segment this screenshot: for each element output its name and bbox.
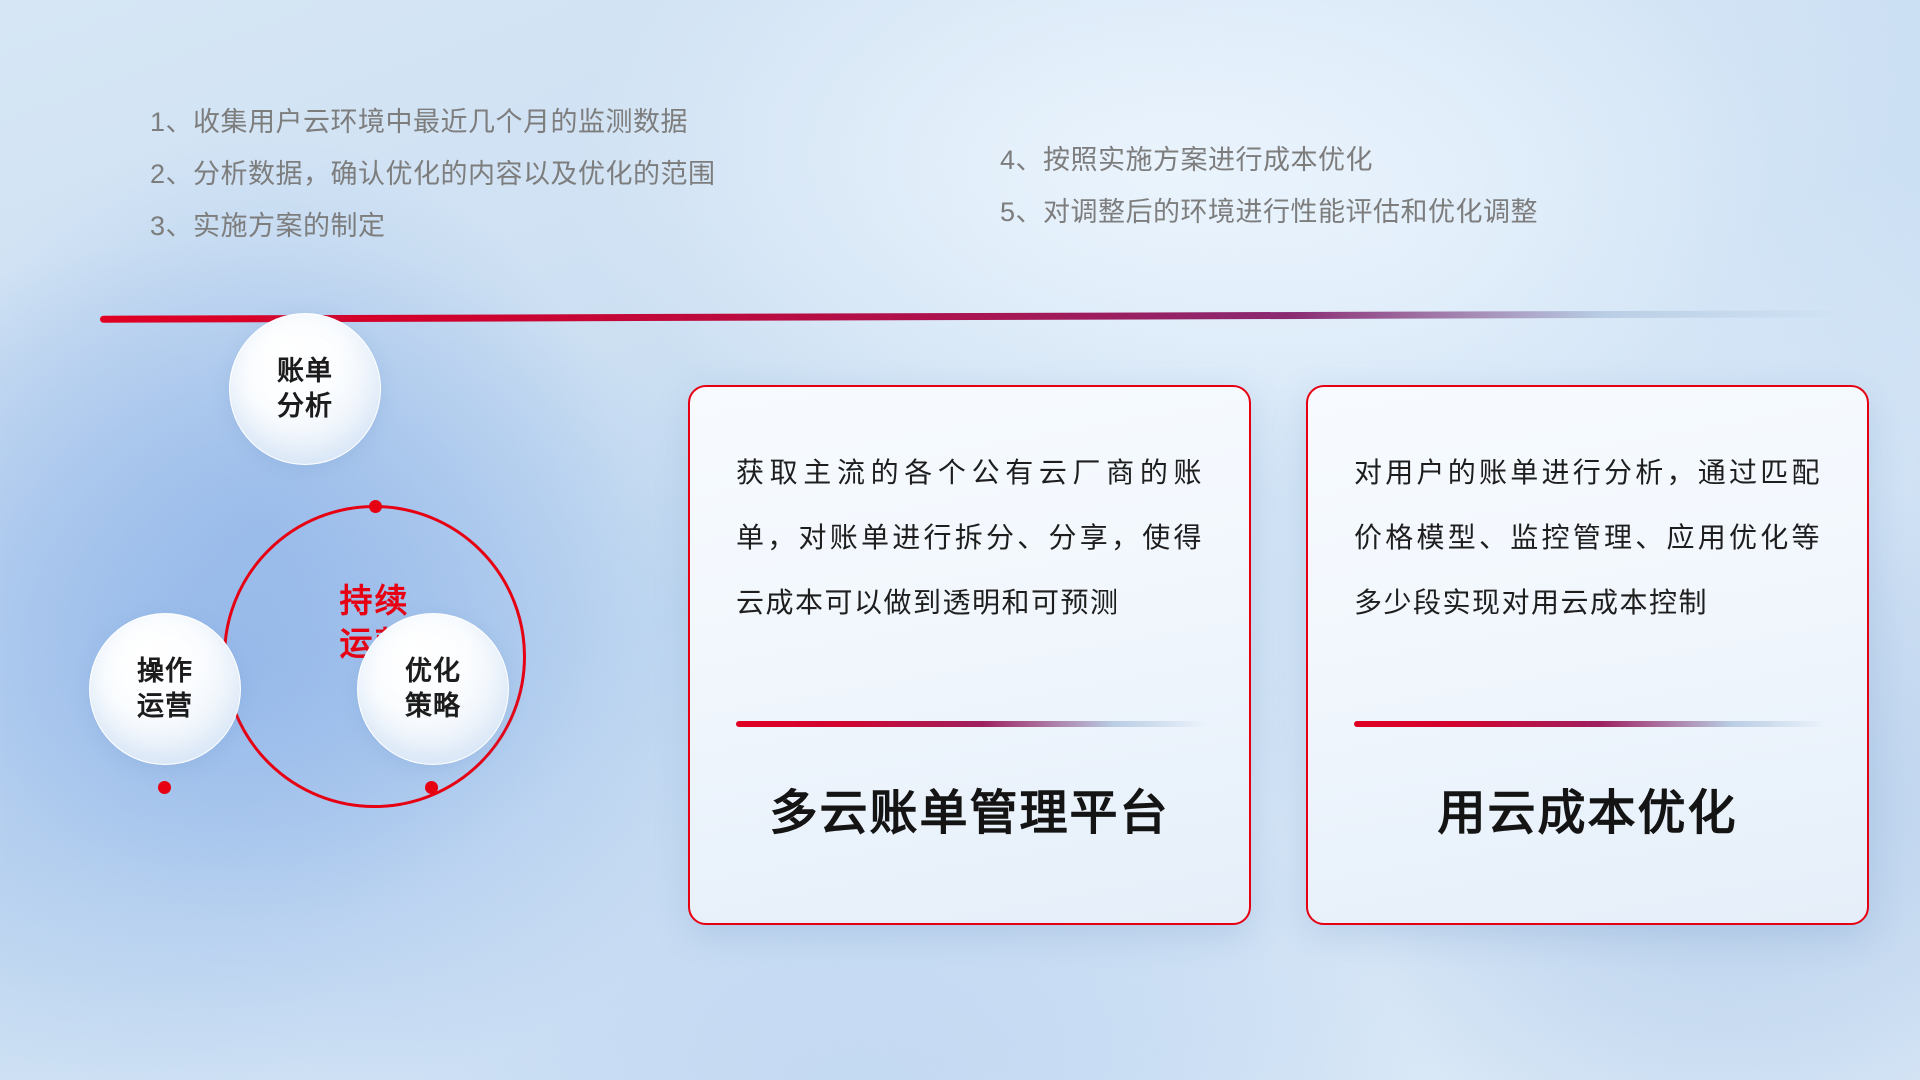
feature-card-cloud-cost-optimization[interactable]: 对用户的账单进行分析，通过匹配价格模型、监控管理、应用优化等多少段实现对用云成本… bbox=[1306, 385, 1869, 925]
feature-card-divider bbox=[1354, 721, 1826, 727]
feature-card-title: 多云账单管理平台 bbox=[736, 773, 1203, 843]
venn-bubble-label-line2: 运营 bbox=[137, 689, 193, 724]
steps-column-right: 4、按照实施方案进行成本优化 5、对调整后的环境进行性能评估和优化调整 bbox=[1000, 134, 1538, 238]
venn-bubble-bill-analysis[interactable]: 账单 分析 bbox=[229, 313, 381, 465]
step-item-4: 4、按照实施方案进行成本优化 bbox=[1000, 134, 1538, 186]
venn-node-dot-right bbox=[425, 781, 438, 794]
step-item-1: 1、收集用户云环境中最近几个月的监测数据 bbox=[150, 96, 716, 148]
feature-card-body: 对用户的账单进行分析，通过匹配价格模型、监控管理、应用优化等多少段实现对用云成本… bbox=[1354, 441, 1821, 711]
venn-node-dot-top bbox=[369, 500, 382, 513]
feature-card-divider bbox=[736, 721, 1208, 727]
venn-bubble-label-line1: 优化 bbox=[405, 654, 461, 689]
step-item-5: 5、对调整后的环境进行性能评估和优化调整 bbox=[1000, 186, 1538, 238]
step-item-2: 2、分析数据，确认优化的内容以及优化的范围 bbox=[150, 148, 716, 200]
venn-bubble-optimization-strategy[interactable]: 优化 策略 bbox=[357, 613, 509, 765]
venn-bubble-label-line1: 操作 bbox=[137, 654, 193, 689]
venn-diagram: 持续 运营 账单 分析 操作 运营 优化 策略 bbox=[95, 345, 595, 905]
step-item-3: 3、实施方案的制定 bbox=[150, 200, 716, 252]
venn-node-dot-left bbox=[158, 781, 171, 794]
venn-bubble-label-line2: 分析 bbox=[277, 389, 333, 424]
section-divider bbox=[100, 310, 1845, 322]
venn-bubble-operations[interactable]: 操作 运营 bbox=[89, 613, 241, 765]
venn-bubble-label-line2: 策略 bbox=[405, 689, 461, 724]
venn-bubble-label: 优化 策略 bbox=[405, 654, 461, 723]
venn-bubble-label: 操作 运营 bbox=[137, 654, 193, 723]
venn-bubble-label: 账单 分析 bbox=[277, 354, 333, 423]
steps-column-left: 1、收集用户云环境中最近几个月的监测数据 2、分析数据，确认优化的内容以及优化的… bbox=[150, 96, 716, 252]
feature-card-body: 获取主流的各个公有云厂商的账单，对账单进行拆分、分享，使得云成本可以做到透明和可… bbox=[736, 441, 1203, 711]
feature-card-multi-cloud-billing-platform[interactable]: 获取主流的各个公有云厂商的账单，对账单进行拆分、分享，使得云成本可以做到透明和可… bbox=[688, 385, 1251, 925]
venn-bubble-label-line1: 账单 bbox=[277, 354, 333, 389]
feature-card-title: 用云成本优化 bbox=[1354, 773, 1821, 843]
venn-center-label-line1: 持续 bbox=[223, 580, 526, 623]
steps-section: 1、收集用户云环境中最近几个月的监测数据 2、分析数据，确认优化的内容以及优化的… bbox=[0, 96, 1920, 256]
